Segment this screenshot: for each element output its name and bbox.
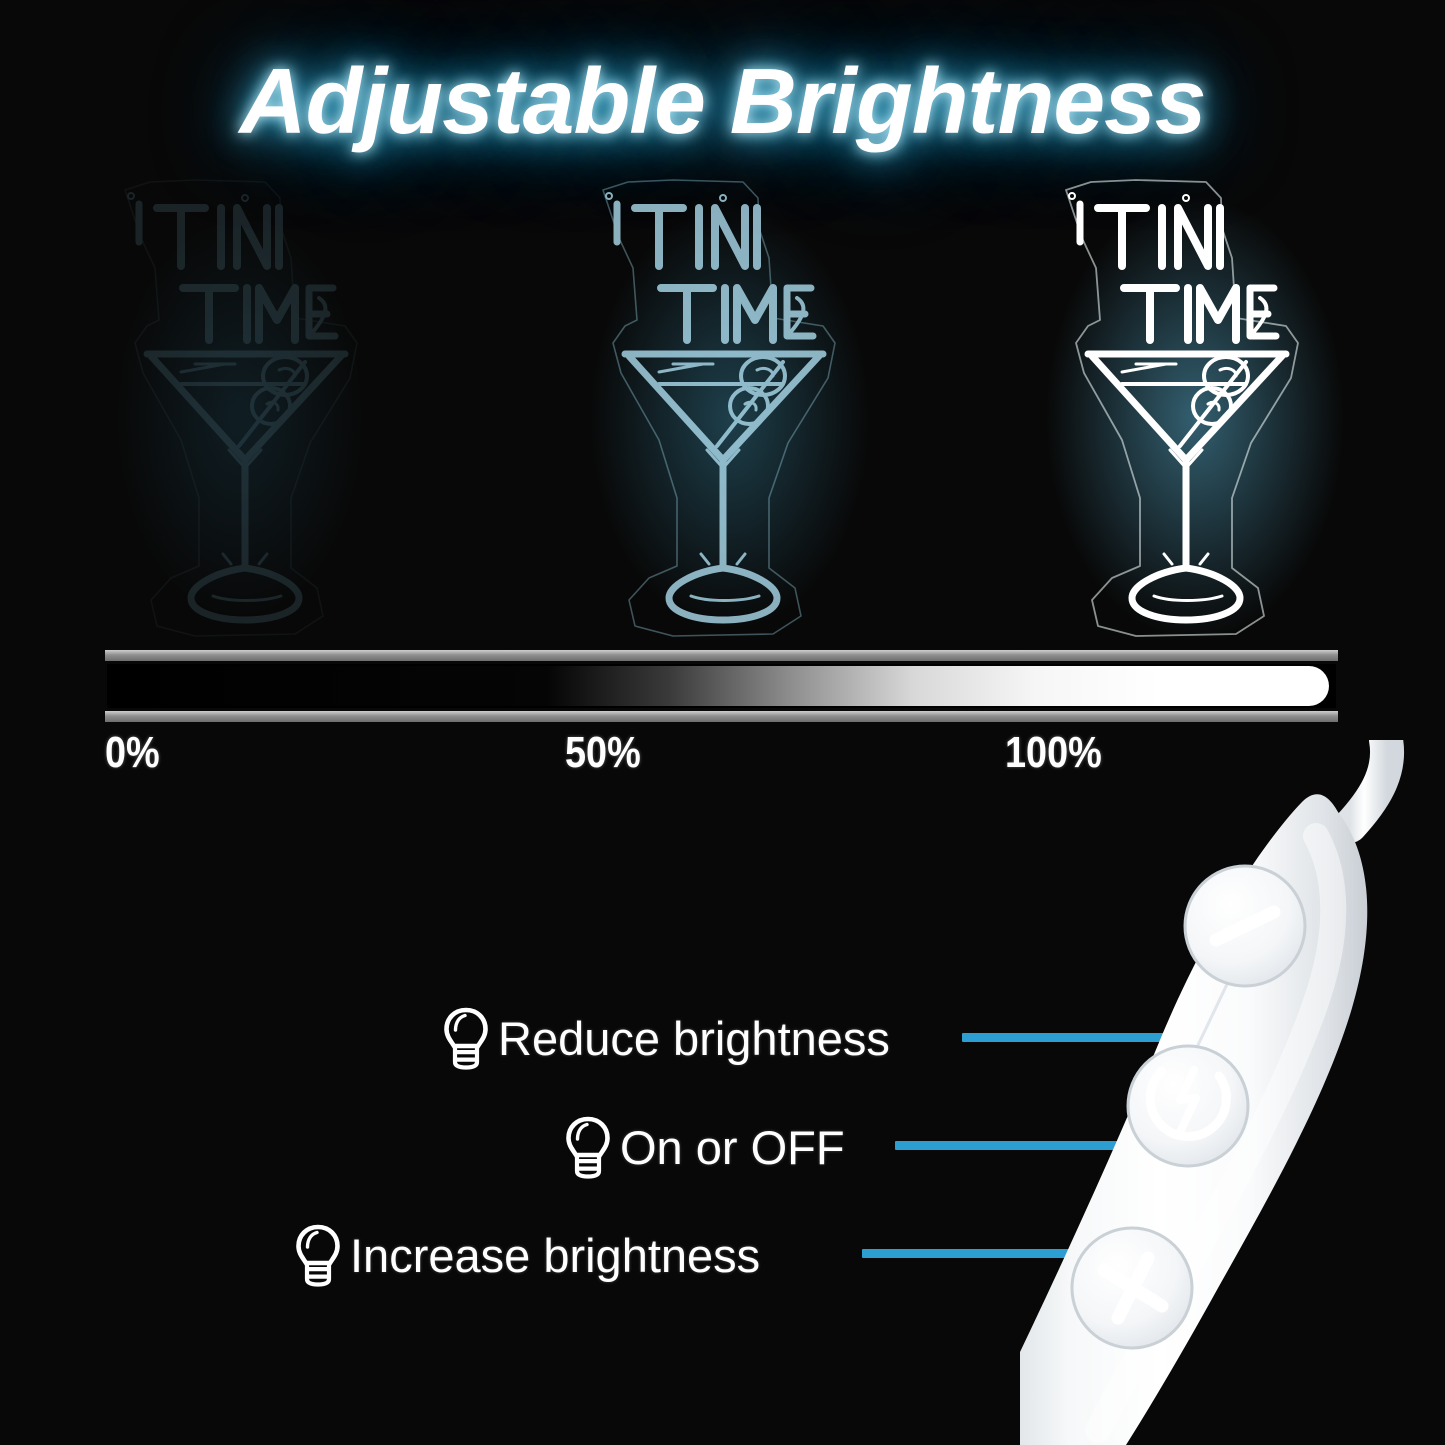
neon-sign-full: [1036, 168, 1336, 648]
neon-sign-dim: [95, 168, 395, 648]
plus-button[interactable]: [1072, 1228, 1192, 1348]
bulb-icon: [292, 1223, 344, 1287]
callout-label: Reduce brightness: [498, 1011, 890, 1066]
page-title: Adjustable Brightness: [0, 48, 1445, 155]
bulb-icon: [440, 1006, 492, 1070]
callout-increase-brightness: Increase brightness: [292, 1220, 760, 1290]
slider-rail-top: [105, 650, 1338, 661]
slider-label-min: 0%: [105, 728, 160, 778]
brightness-slider[interactable]: [105, 650, 1338, 722]
brightness-demo-row: [0, 168, 1445, 648]
callout-reduce-brightness: Reduce brightness: [440, 1003, 890, 1073]
slider-fill: [107, 666, 1329, 706]
callout-label: On or OFF: [620, 1120, 845, 1175]
slider-label-mid: 50%: [565, 728, 641, 778]
minus-button[interactable]: [1185, 866, 1305, 986]
callout-on-off: On or OFF: [562, 1112, 845, 1182]
infographic-canvas: Adjustable Brightness: [0, 0, 1445, 1445]
bulb-icon: [562, 1115, 614, 1179]
inline-dimmer-remote: [1020, 740, 1445, 1445]
callout-label: Increase brightness: [350, 1228, 760, 1283]
slider-rail-bottom: [105, 711, 1338, 722]
neon-sign-medium: [573, 168, 873, 648]
power-button[interactable]: [1128, 1046, 1248, 1166]
remote-cord: [1350, 740, 1387, 826]
